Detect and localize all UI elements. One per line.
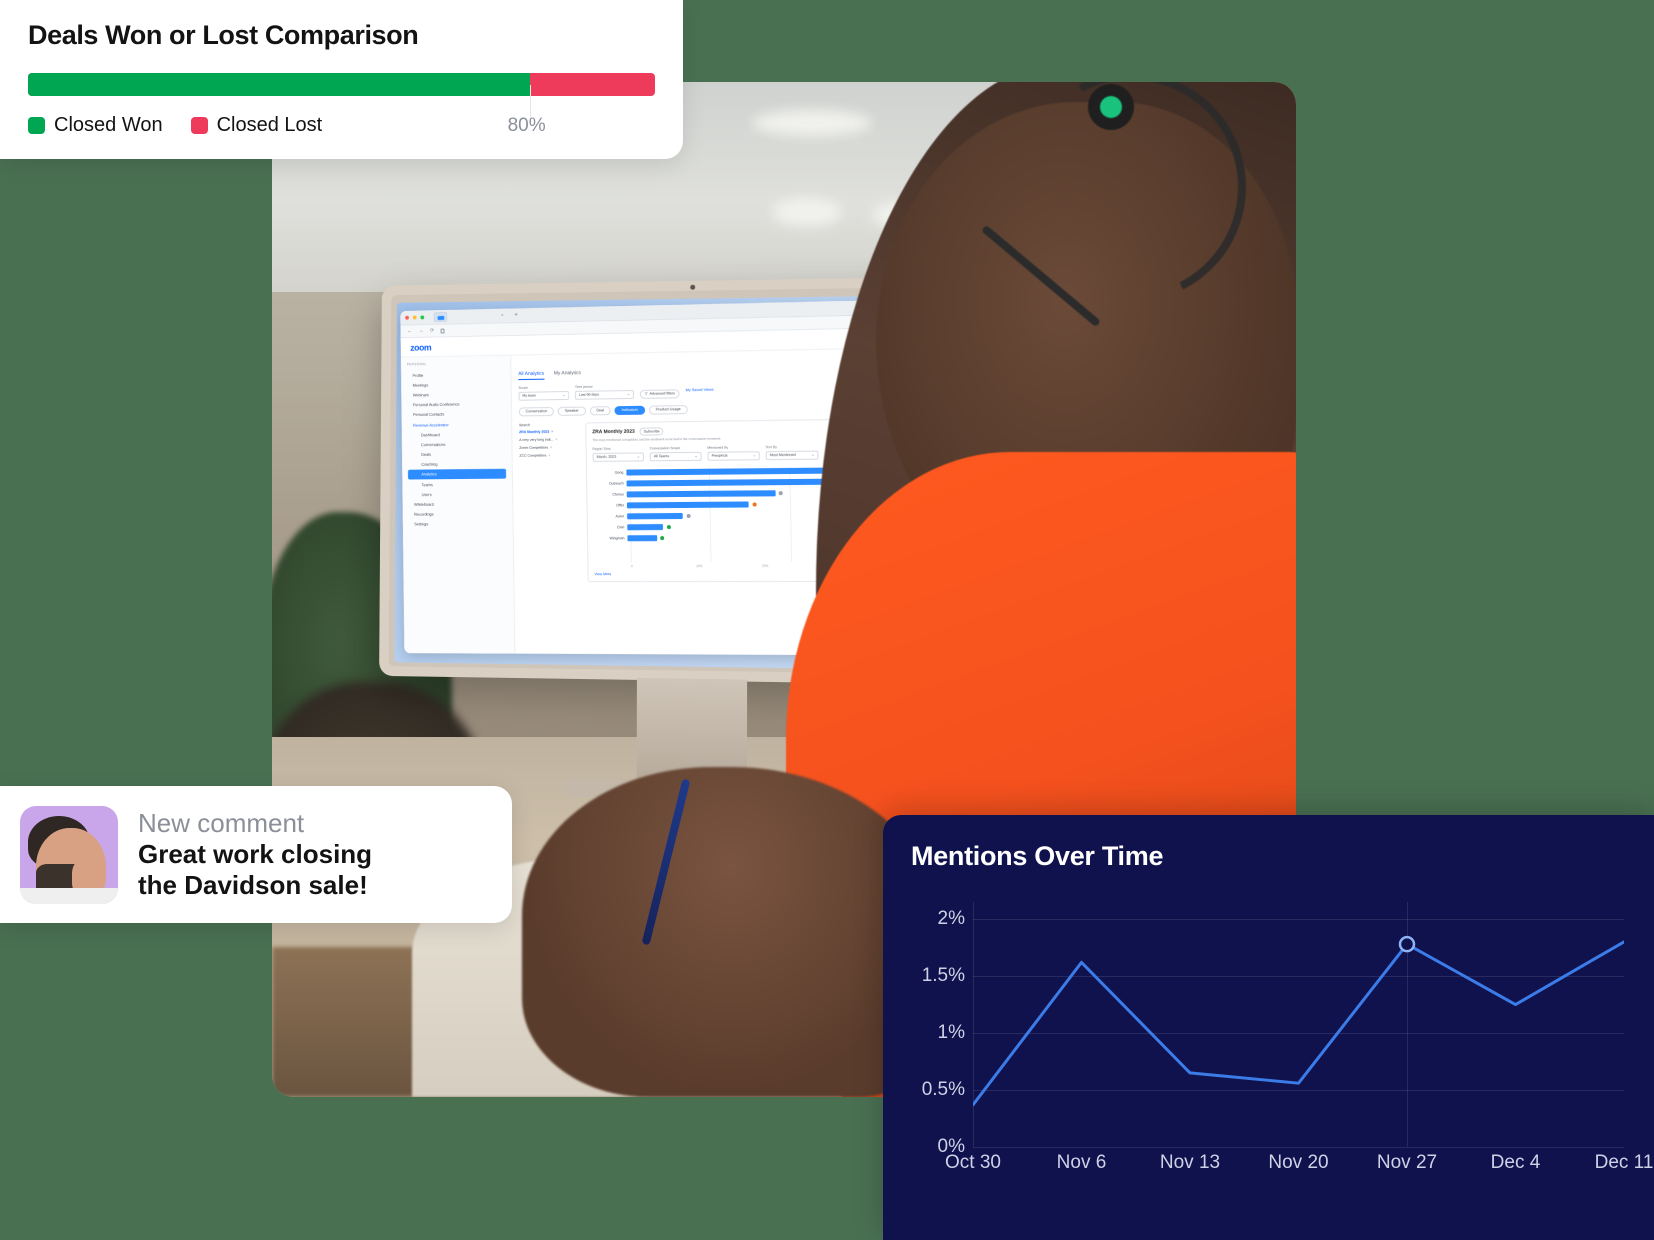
subscribe-button[interactable]: Subscribe [640,427,664,435]
bar-label: Clari [594,525,628,529]
y-tick: 1% [938,1022,965,1044]
search-item[interactable]: ZCC Competitors× [519,453,580,458]
search-column: Search ZRA Monthly 2023× A very very lon… [519,422,582,582]
search-item[interactable]: A very very long indi...× [519,437,579,442]
square-swatch-icon [28,117,45,134]
comment-label: New comment [138,808,372,839]
headset-earpiece [1088,84,1134,130]
conversation-scope-select[interactable]: All Teams⌄ [650,451,702,461]
bar-label: Outreach [593,481,627,485]
time-period-filter: Time period Last 90 days⌄ [575,384,634,399]
page-title: Deals Won or Lost Comparison [28,20,655,51]
mentioned-by-label: Mentioned By [707,445,759,450]
y-tick: 0.5% [922,1079,965,1101]
legend-label: Closed Lost [217,114,323,137]
y-tick: 1.5% [922,965,965,987]
close-icon[interactable] [405,316,409,320]
search-item[interactable]: ZRA Monthly 2023× [519,429,579,434]
chip-conversation[interactable]: Conversation [519,407,554,416]
x-tick: Oct 30 [945,1152,1001,1174]
close-icon[interactable]: × [548,453,550,457]
sidebar-item-settings[interactable]: Settings [409,519,513,530]
filter-icon: ▽ [645,392,648,396]
mentioned-by-filter: Mentioned By Prospects⌄ [707,445,759,460]
sort-by-select[interactable]: Most Mentioned⌄ [766,450,819,460]
bar-label: Chorus [593,492,627,496]
deals-progress-bar [28,73,655,96]
scope-filter: Scope My team⌄ [518,385,569,400]
scope-select[interactable]: My team⌄ [518,391,569,401]
grid-line [973,1147,1624,1148]
tab-close-icon[interactable]: × [501,313,504,319]
chip-speaker[interactable]: Speaker [558,406,586,415]
tab-all-analytics[interactable]: All Analytics [518,371,544,380]
report-time-filter: Report Time March, 2023⌄ [592,446,643,461]
back-arrow-icon[interactable]: ← [407,328,412,334]
x-tick: Dec 4 [1491,1152,1541,1174]
search-item[interactable]: Zoom Competitors× [519,445,580,450]
mentioned-by-select[interactable]: Prospects⌄ [707,451,759,461]
chart-canvas [973,902,1624,1147]
report-time-select[interactable]: March, 2023⌄ [593,452,644,461]
conversation-scope-filter: Conversation Scope All Teams⌄ [650,446,702,461]
screenshot-root: × + ← → ⟳ zoom PERSONAL Profi [0,0,1654,1240]
x-tick: Nov 6 [1057,1152,1107,1174]
chart-y-axis: 0%0.5%1%1.5%2% [911,902,973,1147]
chevron-down-icon: ⌄ [811,453,814,457]
conversation-scope-label: Conversation Scope [650,446,702,451]
chart-line-series [973,902,1624,1147]
chart-title: Mentions Over Time [911,841,1654,872]
x-tick: 0 [631,564,696,568]
ceiling-light [772,198,842,226]
deals-percent-label: 80% [508,115,546,137]
lock-icon [441,328,445,333]
new-comment-card[interactable]: New comment Great work closing the David… [0,786,512,923]
avatar-shirt [20,888,118,904]
person-hands [522,767,942,1097]
report-time-label: Report Time [592,446,643,451]
close-icon[interactable]: × [555,437,557,441]
time-period-select[interactable]: Last 90 days⌄ [575,390,634,400]
new-tab-icon[interactable]: + [514,312,517,318]
sidebar-item-whiteboard[interactable]: Whiteboard [408,499,512,510]
sidebar-caption: PERSONAL [407,361,511,367]
sort-by-label: Sort By [766,445,819,450]
avatar [20,806,118,904]
close-icon[interactable]: × [550,445,552,449]
advanced-filters-button[interactable]: ▽Advanced filters [640,389,680,399]
comment-message-line-2: the Davidson sale! [138,870,372,901]
chevron-down-icon: ⌄ [627,392,630,396]
chip-deal[interactable]: Deal [589,406,611,415]
mentions-over-time-card: Mentions Over Time 0%0.5%1%1.5%2% Oct 30… [883,815,1654,1240]
deals-comparison-card: Deals Won or Lost Comparison Closed Won … [0,0,683,159]
search-label: Search [519,422,579,427]
app-sidebar: PERSONAL Profile Meetings Webinars Perso… [401,356,516,654]
bar-label: Gong [593,471,627,475]
closed-won-segment [28,73,530,96]
legend-label: Closed Won [54,114,163,137]
deals-legend: Closed Won Closed Lost 80% [28,114,655,137]
chart-x-axis: Oct 30Nov 6Nov 13Nov 20Nov 27Dec 4Dec 11 [973,1152,1624,1182]
chevron-down-icon: ⌄ [562,393,565,397]
square-swatch-icon [191,117,208,134]
browser-tab[interactable] [434,312,448,322]
saved-views-link[interactable]: My Saved Views [686,388,714,392]
time-period-label: Time period [575,384,634,389]
chip-indicators[interactable]: Indicators [615,405,645,414]
chevron-down-icon: ⌄ [753,453,756,457]
webcam-icon [690,285,695,290]
minimize-icon[interactable] [413,316,417,320]
tab-my-analytics[interactable]: My Analytics [554,370,581,379]
x-tick: Nov 27 [1377,1152,1437,1174]
chevron-down-icon: ⌄ [695,454,698,458]
comment-message-line-1: Great work closing [138,839,372,870]
bar-label: Offer [593,503,627,507]
legend-item-closed-won: Closed Won [28,114,163,137]
chevron-down-icon: ⌄ [637,454,640,458]
comment-text: New comment Great work closing the David… [138,808,372,900]
bar-label: Aviso [594,514,628,518]
x-tick: Nov 20 [1268,1152,1328,1174]
y-tick: 2% [938,908,965,930]
maximize-icon[interactable] [420,315,424,319]
close-icon[interactable]: × [551,429,553,433]
x-tick: 10% [696,563,762,567]
scope-label: Scope [518,385,569,390]
forward-arrow-icon[interactable]: → [419,328,424,334]
x-tick: Dec 11 [1595,1152,1654,1174]
chart-highlight-point[interactable] [1400,937,1414,951]
report-title: ZRA Monthly 2023 [592,428,635,434]
view-more-link[interactable]: View More [594,572,611,576]
legend-item-closed-lost: Closed Lost [191,114,323,137]
chart-plot-area: 0%0.5%1%1.5%2% Oct 30Nov 6Nov 13Nov 20No… [911,902,1624,1184]
bar-label: Wingman [594,536,628,540]
sidebar-item-recordings[interactable]: Recordings [408,509,512,520]
sort-by-filter: Sort By Most Mentioned⌄ [766,445,819,460]
ceiling-light [752,110,872,136]
x-tick: Nov 13 [1160,1152,1220,1174]
reload-icon[interactable]: ⟳ [430,328,434,334]
chip-product-usage[interactable]: Product Usage [649,405,688,415]
